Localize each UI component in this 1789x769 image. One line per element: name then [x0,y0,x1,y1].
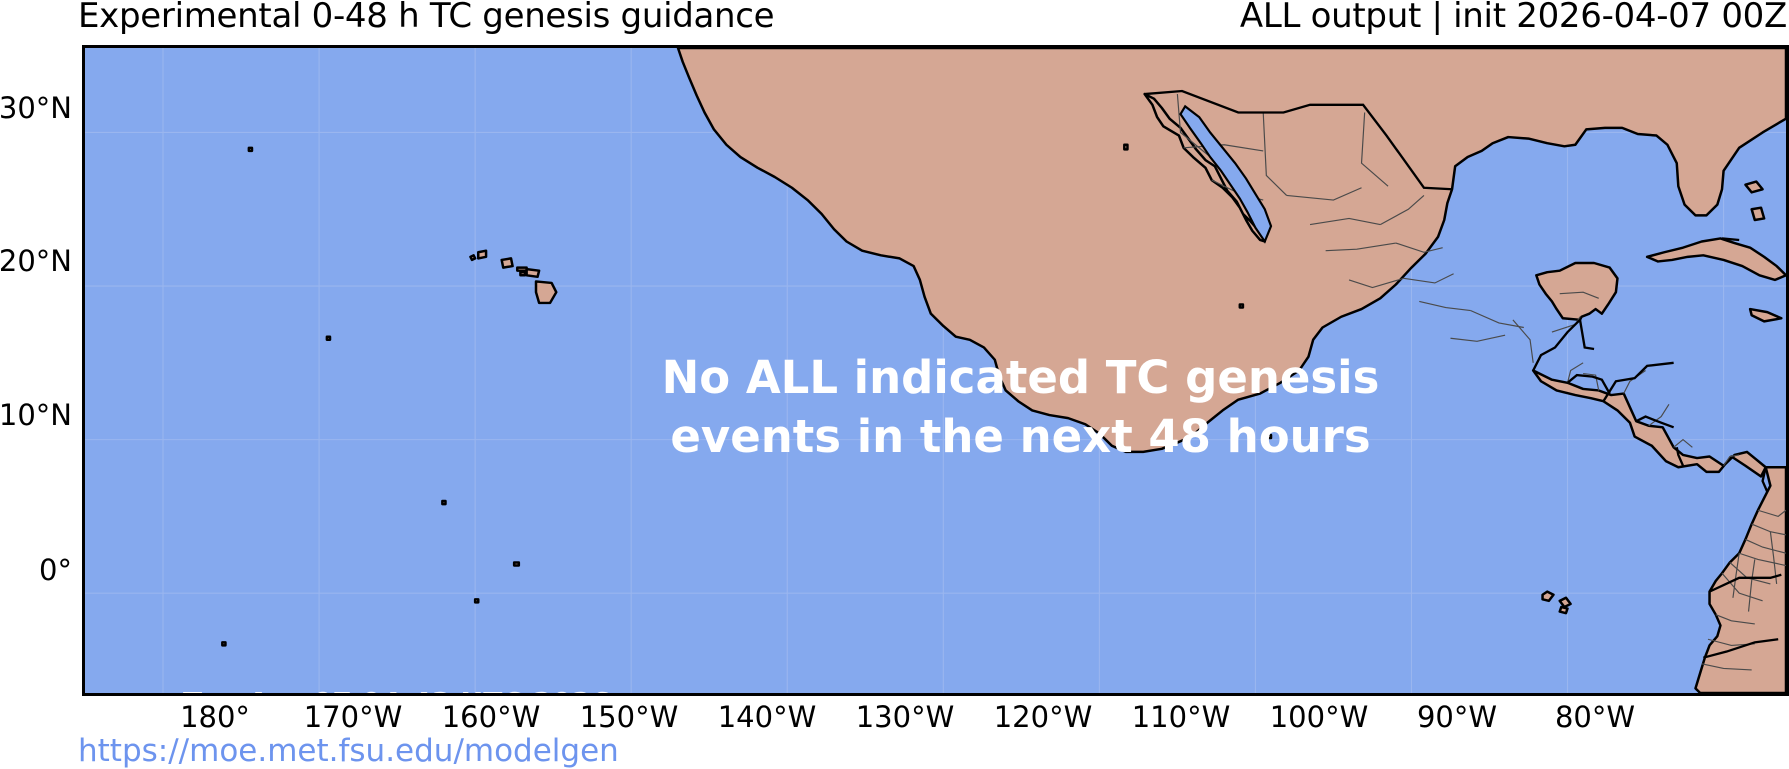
molokai-island [517,268,526,271]
guadalupe-island [1124,145,1127,150]
x-tick-label: 130°W [856,700,955,734]
basemap [85,48,1786,693]
y-tick-label: 30°N [0,91,72,125]
x-tick-label: 120°W [994,700,1093,734]
maui-island [527,269,539,277]
oahu-island [502,258,513,267]
x-tick-label: 110°W [1132,700,1231,734]
source-url-link[interactable]: https://moe.met.fsu.edu/modelgen [78,733,619,769]
x-tick-label: 80°W [1555,700,1635,734]
x-tick-label: 140°W [718,700,817,734]
malden-island [222,642,225,645]
x-tick-label: 90°W [1417,700,1497,734]
x-tick-label: 180° [180,700,250,734]
kauai-island [478,251,486,259]
palmyra-atoll [442,501,445,504]
hawaii-big-island [536,281,556,303]
johnston-atoll [327,337,330,340]
kingman-reef [249,148,252,151]
y-tick-label: 10°N [0,398,72,432]
lanai-island [520,272,525,275]
y-tick-label: 20°N [0,244,72,278]
andros-island [1752,208,1764,220]
page-title: Experimental 0-48 h TC genesis guidance [78,0,774,36]
niihau-island [470,255,475,260]
x-tick-label: 170°W [304,700,403,734]
x-tick-label: 100°W [1270,700,1369,734]
santa-cruz-island [1560,607,1568,613]
x-tick-label: 150°W [580,700,679,734]
tc-genesis-figure: Experimental 0-48 h TC genesis guidance … [0,0,1789,768]
map-plot-area[interactable]: No ALL indicated TC genesis events in th… [82,45,1789,696]
socorro-island [1240,304,1243,307]
y-tick-label: 0° [39,553,72,587]
x-tick-label: 160°W [442,700,541,734]
generation-timestamp: Tue Apr 07 04:43 UTC 2026 [183,686,611,696]
kiritimati-atoll [514,562,519,565]
clipperton-island [1268,435,1271,438]
model-init-label: ALL output | init 2026-04-07 00Z [1240,0,1787,36]
jarvis-island [475,599,478,602]
